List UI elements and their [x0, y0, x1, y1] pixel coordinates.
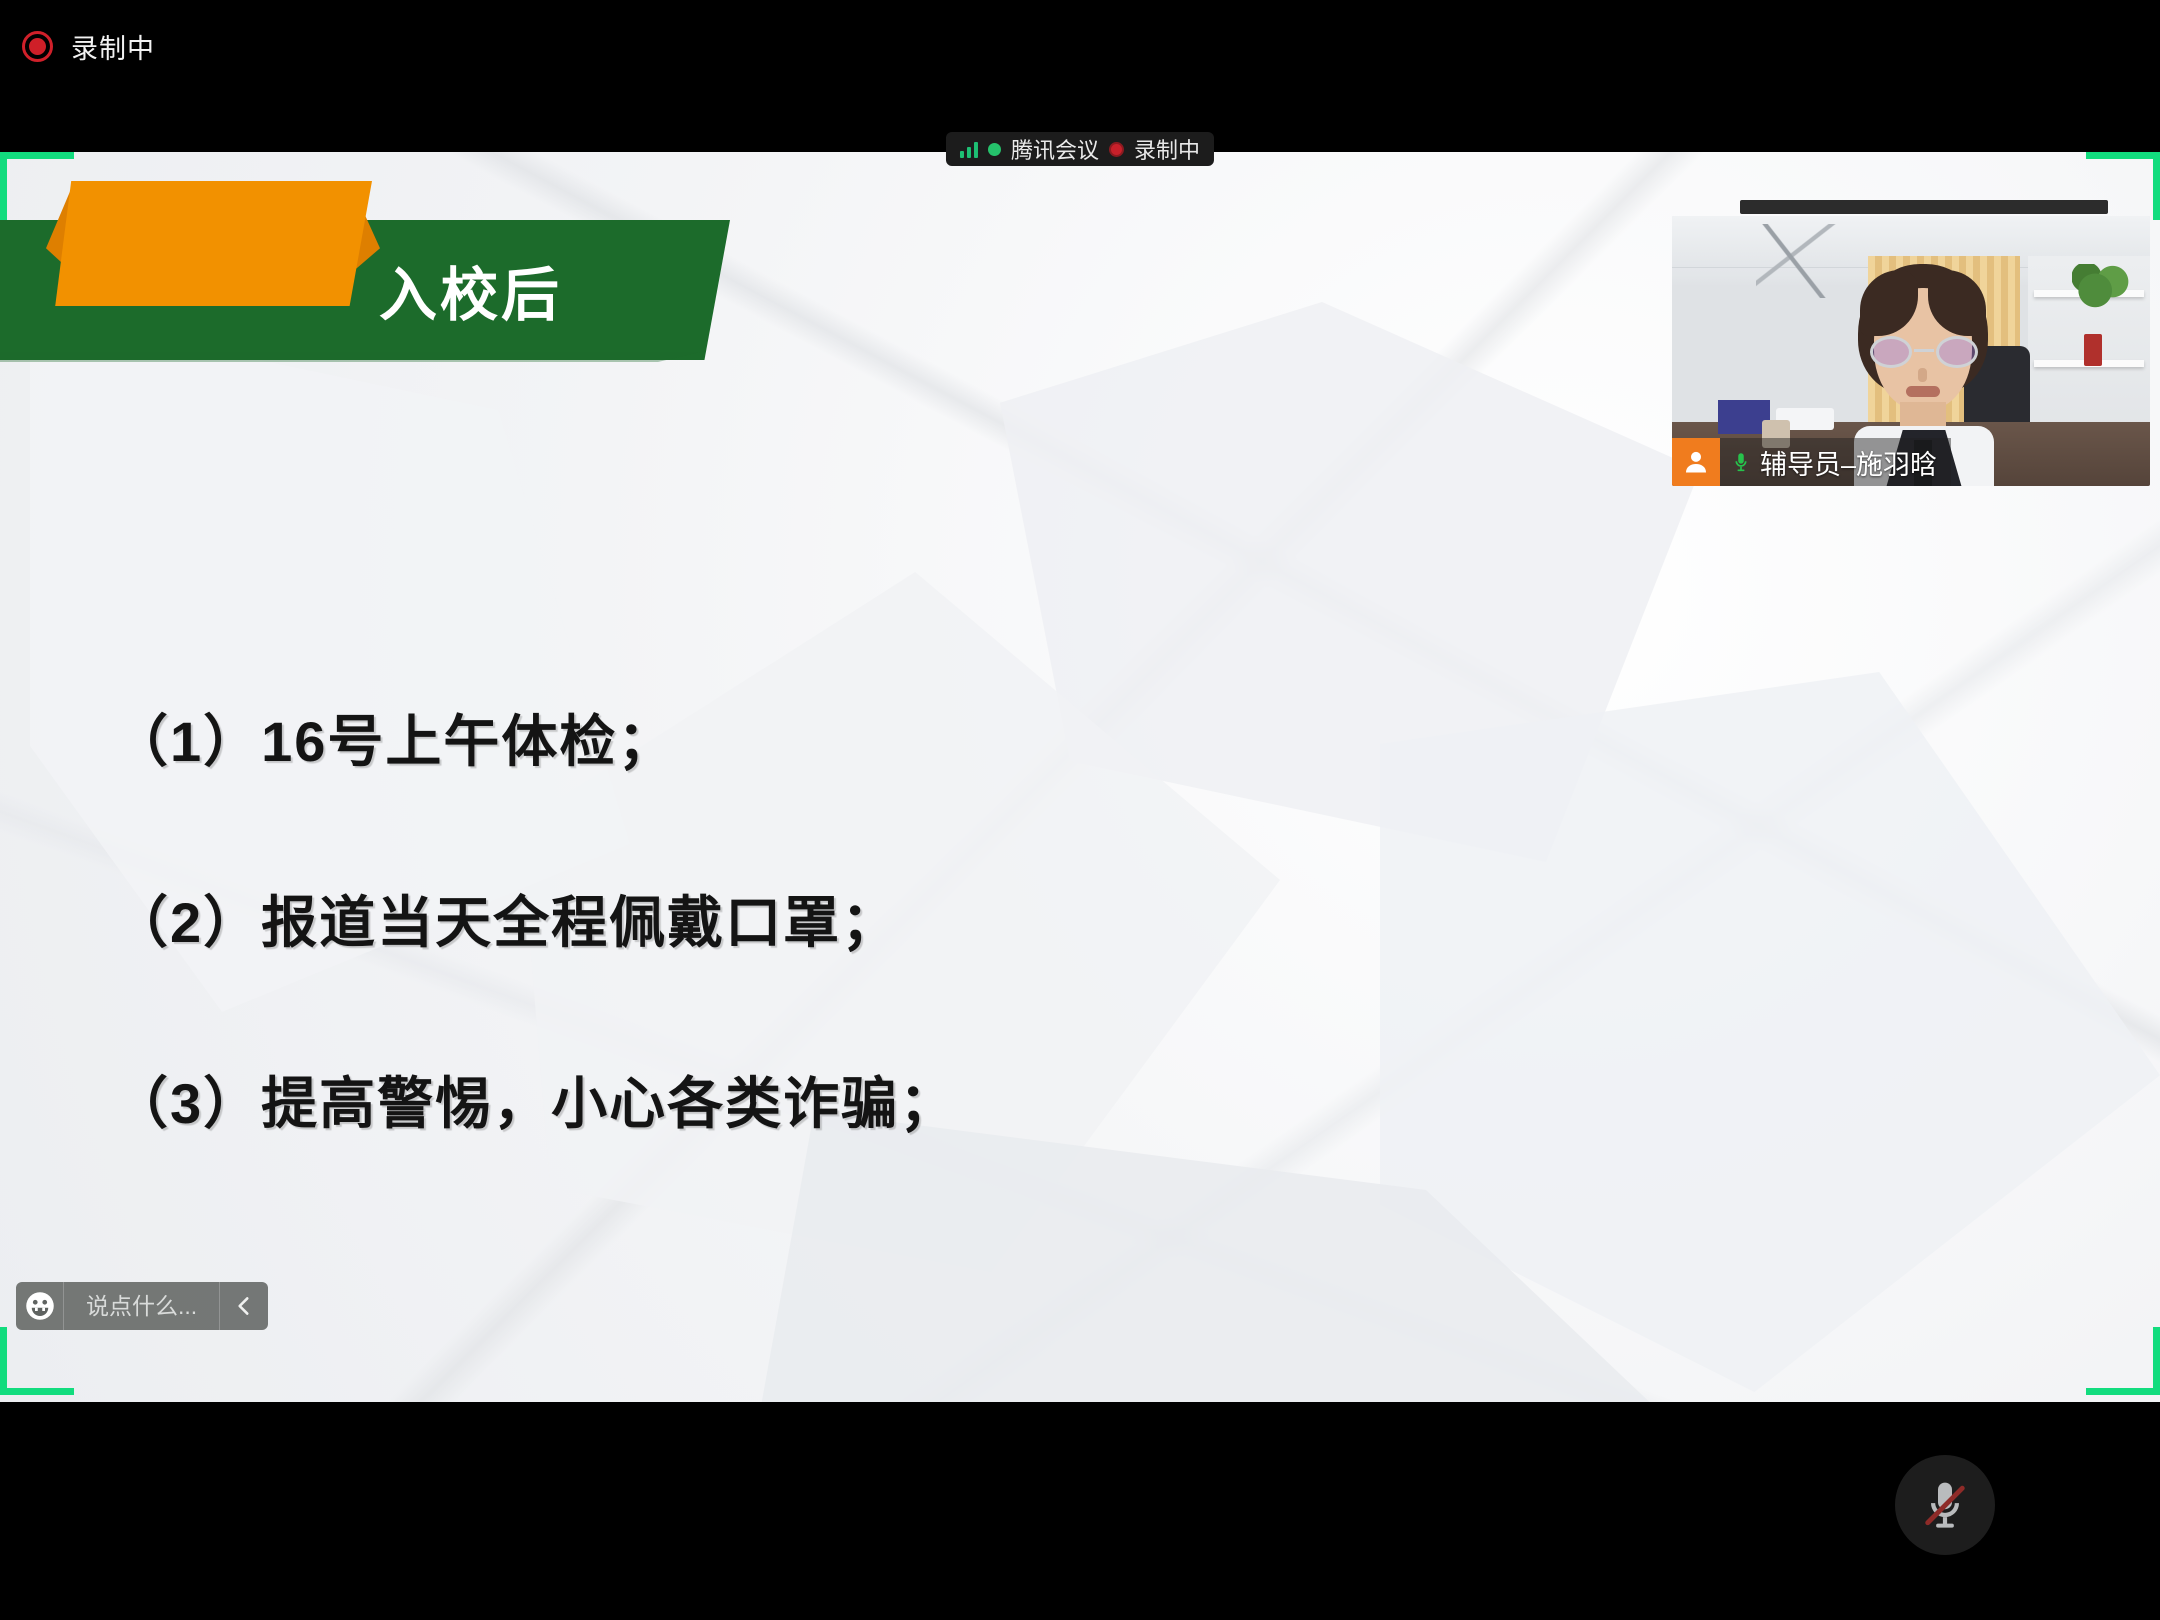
person-icon — [1672, 438, 1720, 486]
participant-name: 辅导员–施羽晗 — [1760, 443, 1937, 482]
chevron-left-icon[interactable] — [220, 1282, 268, 1330]
meeting-status-pill[interactable]: 腾讯会议 录制中 — [946, 132, 1214, 166]
recording-label: 录制中 — [71, 27, 155, 66]
slide-bullet-2: （2）报道当天全程佩戴口罩； — [112, 878, 957, 959]
signal-bars-icon — [960, 141, 978, 158]
slide-bullet-1: （1）16号上午体检； — [112, 697, 957, 778]
slide-header-banner: 入校后 — [0, 152, 760, 452]
glasses-icon — [1870, 336, 1978, 368]
chat-input-bar[interactable]: 说点什么... — [16, 1282, 268, 1330]
mic-on-icon — [1730, 449, 1752, 475]
record-dot-icon-small — [1109, 142, 1124, 157]
participant-name-chip: 辅导员–施羽晗 — [1720, 438, 1951, 486]
slide-bullet-3: （3）提高警惕，小心各类诈骗； — [112, 1059, 957, 1140]
video-tile-topbar — [1740, 200, 2108, 214]
green-dot-icon — [988, 143, 1001, 156]
meeting-screen: 录制中 腾讯会议 录制中 入校后 （1 — [0, 0, 2160, 1620]
mic-off-icon — [1917, 1477, 1973, 1533]
record-dot-icon — [22, 31, 53, 62]
video-shelf-object — [2084, 334, 2102, 366]
recording-indicator: 录制中 — [22, 26, 155, 66]
chat-input-placeholder[interactable]: 说点什么... — [64, 1282, 220, 1330]
mute-button[interactable] — [1895, 1455, 1995, 1555]
smiley-icon[interactable] — [16, 1282, 64, 1330]
video-wall-art — [1756, 224, 1836, 298]
video-plant — [2072, 264, 2130, 308]
slide-bullet-list: （1）16号上午体检； （2）报道当天全程佩戴口罩； （3）提高警惕，小心各类诈… — [112, 697, 957, 1240]
participant-name-bar: 辅导员–施羽晗 — [1672, 438, 1951, 486]
pill-recording-label: 录制中 — [1134, 133, 1200, 165]
record-dot-inner — [29, 38, 46, 55]
slide-title: 入校后 — [0, 220, 700, 360]
self-video-tile[interactable]: 辅导员–施羽晗 — [1672, 216, 2150, 486]
meeting-app-name: 腾讯会议 — [1011, 133, 1099, 165]
